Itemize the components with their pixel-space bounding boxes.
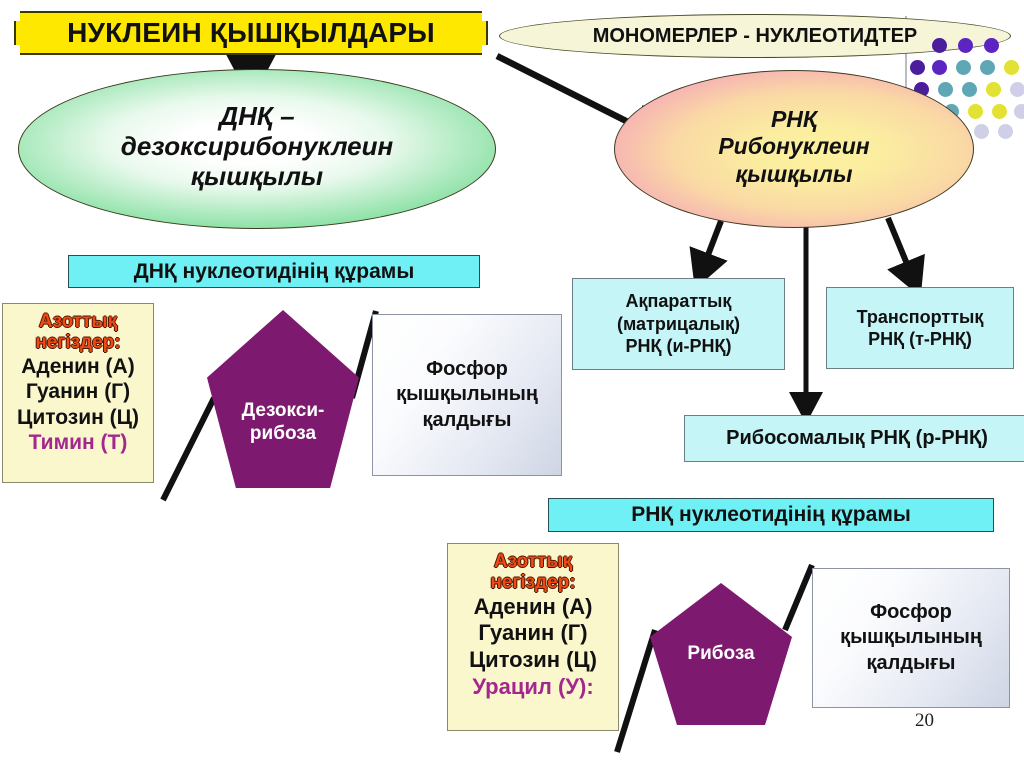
dna-phosphate-box: Фосфор қышқылының қалдығы: [372, 314, 562, 476]
rrna-line1: Рибосомалық РНҚ (р-РНҚ): [726, 426, 988, 451]
rna-bases-head1: Азоттық: [448, 551, 618, 572]
rna-nitrogen-bases-box: Азоттық негіздер: Аденин (А) Гуанин (Г) …: [447, 543, 619, 731]
monomers-label: МОНОМЕРЛЕР - НУКЛЕОТИДТЕР: [593, 25, 918, 48]
deoxyribose-line2: рибоза: [250, 423, 316, 444]
dna-ellipse-line2: дезоксирибонуклеин: [121, 131, 393, 161]
rna-base-guanine: Гуанин (Г): [448, 620, 618, 647]
bond-rna-sugar-phosphate: [785, 565, 812, 630]
rna-phosphate-line3: қалдығы: [866, 652, 955, 674]
decor-dot: [938, 82, 953, 97]
rna-ellipse-line2: Рибонуклеин: [718, 133, 869, 161]
section-header-dna-label: ДНҚ нуклеотидінің құрамы: [134, 260, 415, 284]
decor-dot: [958, 38, 973, 53]
rna-type-box-mrna: Ақпараттық (матрицалық) РНҚ (и-РНҚ): [572, 278, 785, 370]
dna-base-thymine: Тимин (Т): [3, 430, 153, 456]
decor-dot: [932, 38, 947, 53]
arrow-rna-to-trna: [888, 218, 912, 276]
decor-dot: [974, 124, 989, 139]
decor-dot: [910, 60, 925, 75]
mrna-line3: РНҚ (и-РНҚ): [625, 336, 731, 356]
dna-ellipse-line3: қышқылы: [121, 161, 393, 191]
dna-phosphate-line2: қышқылының: [396, 383, 538, 405]
arrow-rna-to-mrna: [703, 221, 721, 268]
page-number: 20: [915, 710, 934, 732]
decor-dot: [1014, 104, 1024, 119]
rna-phosphate-box: Фосфор қышқылының қалдығы: [812, 568, 1010, 708]
slide-title-text: НУКЛЕИН ҚЫШҚЫЛДАРЫ: [67, 17, 435, 49]
decor-dot: [998, 124, 1013, 139]
rna-ellipse: РНҚ Рибонуклеин қышқылы: [614, 70, 974, 228]
rna-base-adenine: Аденин (А): [448, 594, 618, 621]
rna-ellipse-line3: қышқылы: [718, 161, 869, 189]
ribose-pentagon: Рибоза: [650, 583, 792, 725]
section-header-rna-nucleotide: РНҚ нуклеотидінің құрамы: [548, 498, 994, 532]
dna-phosphate-line3: қалдығы: [422, 409, 511, 431]
rna-phosphate-line2: қышқылының: [840, 626, 982, 648]
decor-dot: [968, 104, 983, 119]
mrna-line2: (матрицалық): [617, 314, 740, 334]
decor-dot: [992, 104, 1007, 119]
dna-phosphate-line1: Фосфор: [426, 358, 508, 380]
rna-type-box-trna: Транспорттық РНҚ (т-РНҚ): [826, 287, 1014, 369]
dna-base-guanine: Гуанин (Г): [3, 379, 153, 405]
dna-bases-head1: Азоттық: [3, 311, 153, 332]
decor-dot: [1004, 60, 1019, 75]
dna-base-adenine: Аденин (А): [3, 354, 153, 380]
rna-type-box-rrna: Рибосомалық РНҚ (р-РНҚ): [684, 415, 1024, 462]
trna-line2: РНҚ (т-РНҚ): [868, 329, 972, 349]
decor-dot: [932, 60, 947, 75]
dna-nitrogen-bases-box: Азоттық негіздер: Аденин (А) Гуанин (Г) …: [2, 303, 154, 483]
dna-ellipse: ДНҚ – дезоксирибонуклеин қышқылы: [18, 69, 496, 229]
trna-line1: Транспорттық: [857, 307, 984, 327]
decor-dot: [956, 60, 971, 75]
rna-base-uracil: Урацил (У):: [448, 674, 618, 701]
bond-dna-base-sugar: [163, 398, 214, 500]
rna-bases-head2: негіздер:: [448, 572, 618, 593]
decor-dot: [984, 38, 999, 53]
deoxyribose-pentagon: Дезокси- рибоза: [207, 310, 359, 488]
mrna-line1: Ақпараттық: [626, 291, 732, 311]
decor-dot: [962, 82, 977, 97]
dna-ellipse-line1: ДНҚ –: [121, 101, 393, 131]
slide-title-banner: НУКЛЕИН ҚЫШҚЫЛДАРЫ: [14, 11, 488, 55]
deoxyribose-line1: Дезокси-: [242, 400, 325, 421]
dna-bases-head2: негіздер:: [3, 332, 153, 353]
section-header-rna-label: РНҚ нуклеотидінің құрамы: [631, 503, 911, 527]
decor-dot: [1010, 82, 1024, 97]
decor-dot: [980, 60, 995, 75]
rna-base-cytosine: Цитозин (Ц): [448, 647, 618, 674]
section-header-dna-nucleotide: ДНҚ нуклеотидінің құрамы: [68, 255, 480, 288]
decor-dot: [986, 82, 1001, 97]
rna-ellipse-line1: РНҚ: [718, 106, 869, 134]
rna-phosphate-line1: Фосфор: [870, 601, 952, 623]
bond-rna-base-sugar: [617, 630, 655, 752]
dna-base-cytosine: Цитозин (Ц): [3, 405, 153, 431]
ribose-label: Рибоза: [687, 643, 754, 666]
slide-canvas: НУКЛЕИН ҚЫШҚЫЛДАРЫ МОНОМЕРЛЕР - НУКЛЕОТИ…: [0, 0, 1024, 767]
